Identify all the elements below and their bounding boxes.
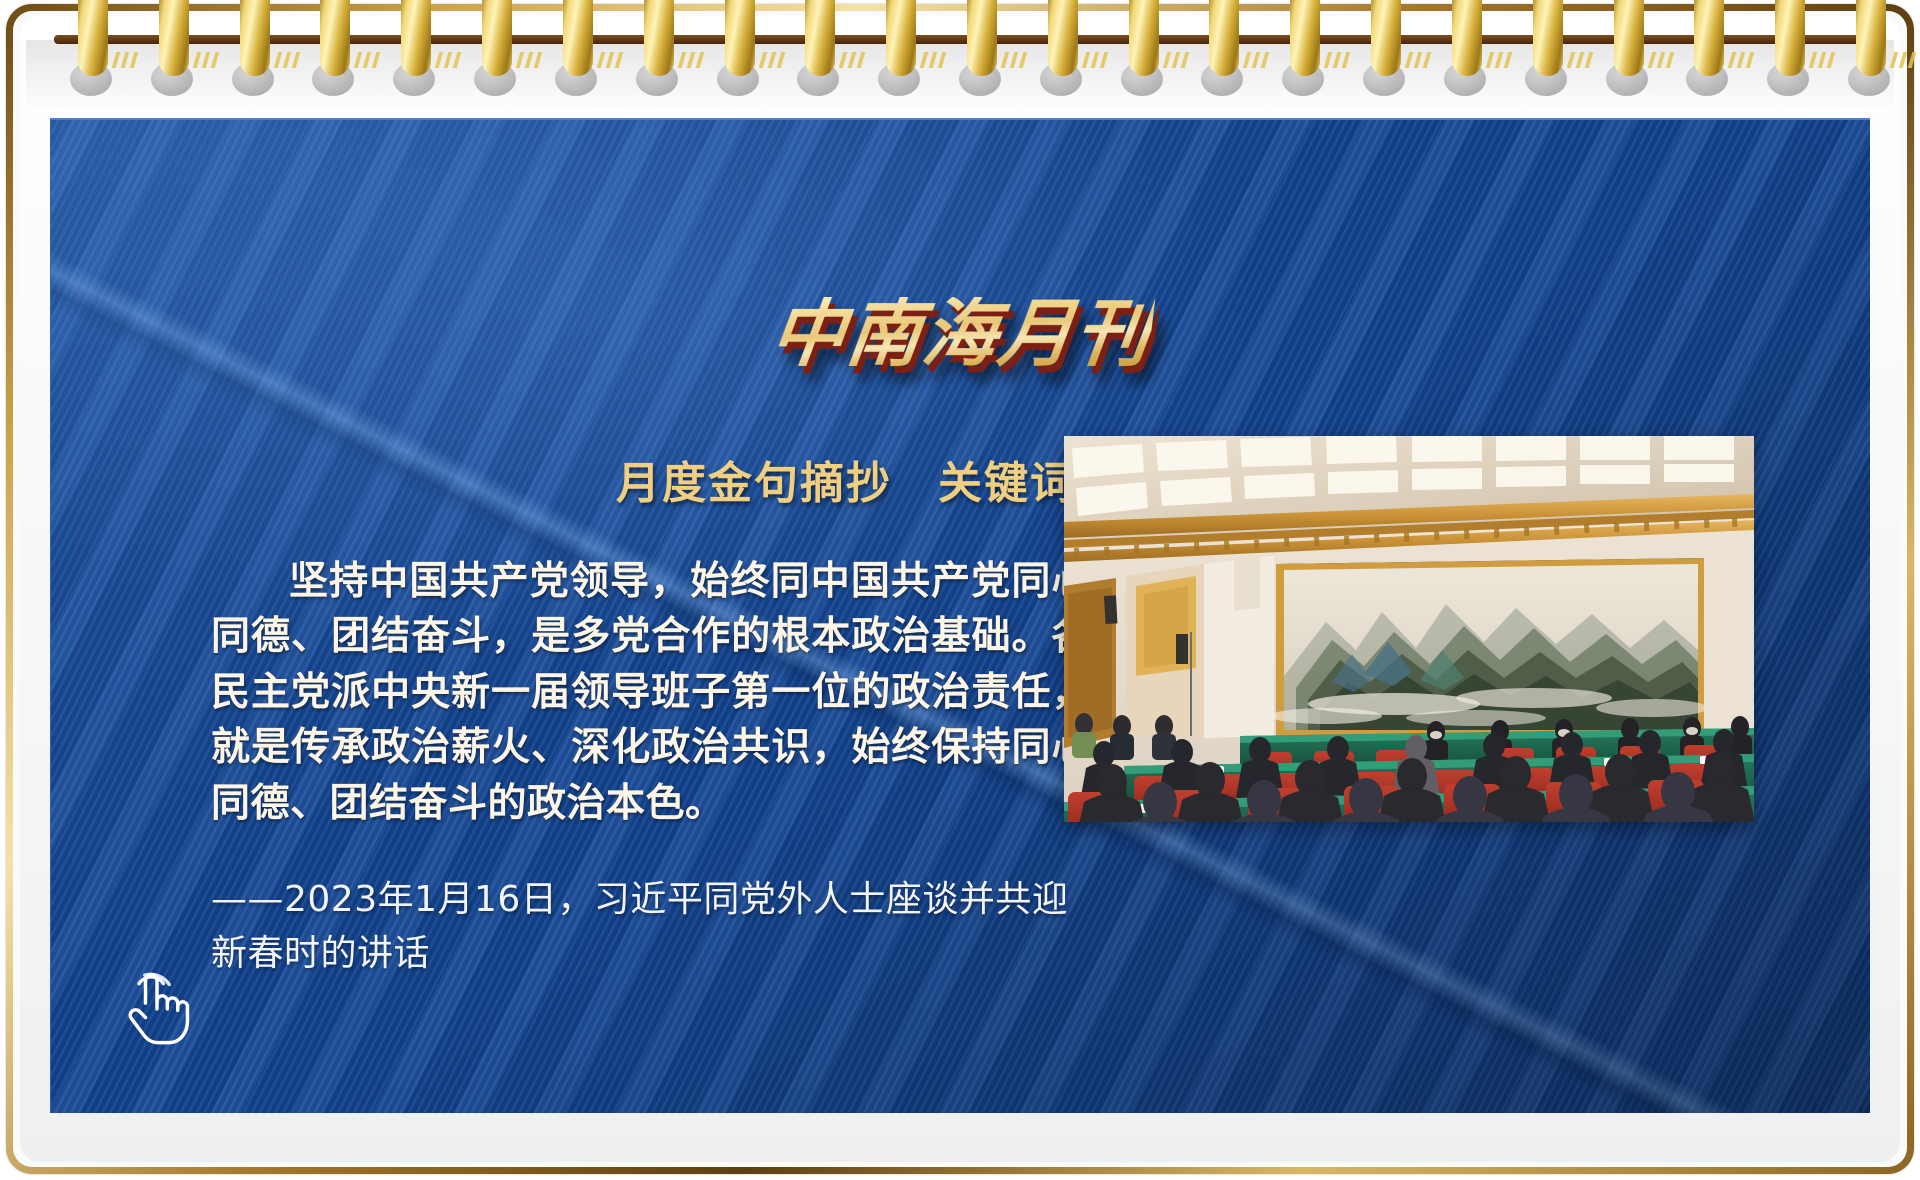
binding-ring [482, 0, 512, 76]
binding-ring [1694, 0, 1724, 76]
binding-ring [1129, 0, 1159, 76]
binding-ring [725, 0, 755, 76]
binding-ring [644, 0, 674, 76]
binding-ring [159, 0, 189, 76]
notebook-page: 中南海月刊 月度金句摘抄 关键词：同心同德 坚持中国共产党领导，始终同中国共产党… [0, 0, 1920, 1180]
binding-ring [1533, 0, 1563, 76]
content-panel: 中南海月刊 月度金句摘抄 关键词：同心同德 坚持中国共产党领导，始终同中国共产党… [50, 118, 1870, 1113]
binding-ring [967, 0, 997, 76]
binding-ring [1856, 0, 1886, 76]
binding-ring-tick [1899, 52, 1908, 68]
page-title: 中南海月刊 [766, 297, 1155, 371]
binding-ring [1209, 0, 1239, 76]
binding-ring [240, 0, 270, 76]
binding-ring [401, 0, 431, 76]
tap-hand-icon[interactable] [111, 960, 203, 1052]
photo-illustration [1064, 436, 1754, 822]
masthead: 中南海月刊 [51, 297, 1870, 371]
binding-ring [1290, 0, 1320, 76]
quote-body-text: 坚持中国共产党领导，始终同中国共产党同心同德、团结奋斗，是多党合作的根本政治基础… [211, 554, 1091, 831]
binding-ring [320, 0, 350, 76]
binding-ring [563, 0, 593, 76]
binding-ring [805, 0, 835, 76]
binding-ring-tick [1908, 52, 1917, 68]
quote-attribution: ——2023年1月16日，习近平同党外人士座谈并共迎新春时的讲话 [211, 873, 1091, 981]
meeting-photograph [1064, 436, 1754, 822]
binding-ring [1614, 0, 1644, 76]
binding-ring [78, 0, 108, 76]
quote-block: 坚持中国共产党领导，始终同中国共产党同心同德、团结奋斗，是多党合作的根本政治基础… [211, 554, 1091, 981]
spiral-binding [0, 0, 1920, 110]
binding-ring [1371, 0, 1401, 76]
binding-ring [1775, 0, 1805, 76]
binding-ring [1048, 0, 1078, 76]
binding-ring [886, 0, 916, 76]
tap-hand-glyph [111, 960, 203, 1052]
binding-ring [1452, 0, 1482, 76]
